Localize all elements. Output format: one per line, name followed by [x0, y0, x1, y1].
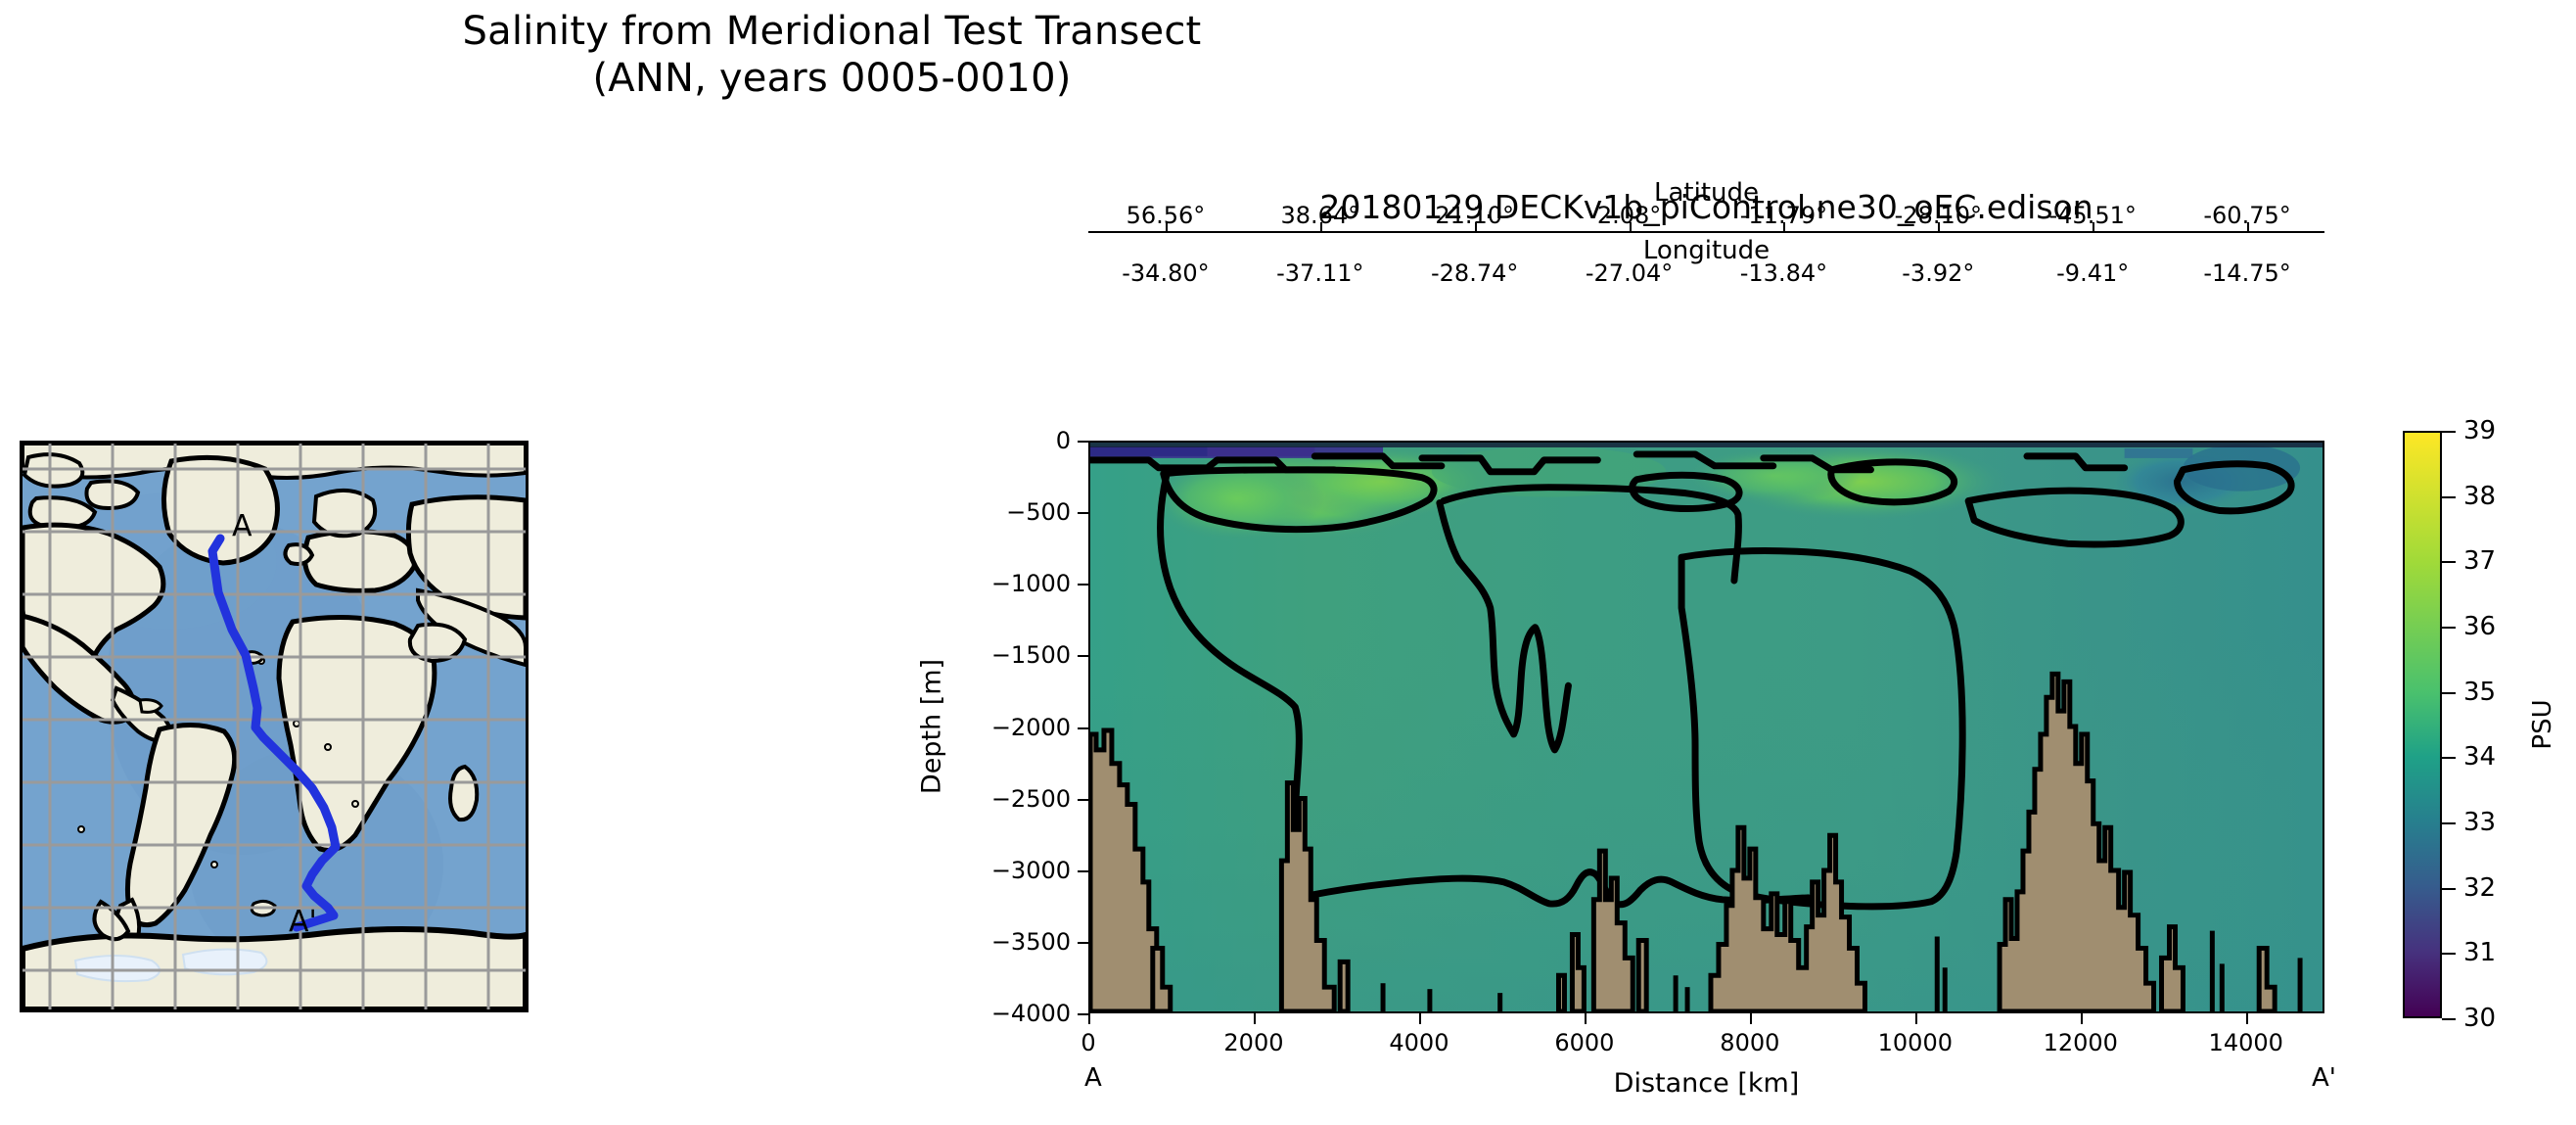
longitude-tick-label: -14.75°	[2203, 259, 2290, 287]
suptitle-line-2: (ANN, years 0005-0010)	[0, 55, 1664, 102]
distance-tick	[1585, 1013, 1587, 1024]
distance-tick-label: 2000	[1223, 1029, 1283, 1056]
distance-tick-label: 4000	[1389, 1029, 1449, 1056]
depth-tick	[1078, 870, 1088, 872]
latitude-tick	[1320, 222, 1322, 231]
colorbar-tick-label: 35	[2463, 678, 2496, 707]
colorbar[interactable]: 30313233343536373839	[2403, 431, 2442, 1018]
map-label-a: A	[232, 509, 253, 543]
colorbar-tick	[2442, 1018, 2456, 1020]
latitude-tick-labels: 56.56°38.64°21.10°2.08°-11.79°-28.10°-45…	[1088, 202, 2324, 231]
distance-tick-label: 0	[1081, 1029, 1095, 1056]
distance-tick-label: 6000	[1554, 1029, 1614, 1056]
figure-canvas: Salinity from Meridional Test Transect (…	[0, 0, 2576, 1125]
colorbar-tick	[2442, 953, 2456, 955]
depth-tick-label: −2000	[961, 714, 1071, 741]
distance-tick-label: 8000	[1720, 1029, 1779, 1056]
distance-tick	[1750, 1013, 1752, 1024]
figure-suptitle: Salinity from Meridional Test Transect (…	[0, 8, 1664, 102]
distance-tick-label: 14000	[2209, 1029, 2283, 1056]
depth-tick-label: −2500	[961, 785, 1071, 813]
colorbar-tick-label: 38	[2463, 482, 2496, 511]
latitude-tick	[1475, 222, 1477, 231]
distance-tick	[1915, 1013, 1917, 1024]
latitude-tick	[2093, 222, 2094, 231]
latitude-axis-line	[1088, 231, 2324, 233]
depth-tick	[1078, 584, 1088, 586]
colorbar-tick	[2442, 496, 2456, 498]
depth-tick-label: −4000	[961, 1000, 1071, 1027]
colorbar-tick	[2442, 561, 2456, 563]
salinity-field	[1090, 443, 2323, 1011]
colorbar-unit-label: PSU	[2528, 699, 2557, 749]
latitude-tick	[1938, 222, 1940, 231]
depth-tick-label: −500	[961, 498, 1071, 526]
depth-tick	[1078, 727, 1088, 729]
transect-start-label: A	[1084, 1063, 1102, 1093]
longitude-tick-label: -27.04°	[1586, 259, 1673, 287]
latitude-tick	[1630, 222, 1632, 231]
colorbar-tick	[2442, 431, 2456, 433]
distance-axis-title: Distance [km]	[1088, 1068, 2324, 1099]
longitude-tick-labels: -34.80°-37.11°-28.74°-27.04°-13.84°-3.92…	[1088, 259, 2324, 289]
suptitle-line-1: Salinity from Meridional Test Transect	[0, 8, 1664, 55]
colorbar-tick	[2442, 822, 2456, 824]
latitude-tick	[1783, 222, 1785, 231]
transect-location-map[interactable]: A A'	[20, 441, 529, 1012]
longitude-tick-label: -34.80°	[1122, 259, 1209, 287]
depth-tick	[1078, 1013, 1088, 1015]
map-label-a-prime: A'	[289, 905, 317, 939]
distance-tick	[1419, 1013, 1421, 1024]
latitude-tick	[2247, 222, 2249, 231]
longitude-tick-label: -3.92°	[1902, 259, 1974, 287]
depth-tick-label: −1500	[961, 641, 1071, 669]
colorbar-tick	[2442, 627, 2456, 629]
colorbar-tick-label: 33	[2463, 808, 2496, 837]
longitude-tick-label: -9.41°	[2056, 259, 2129, 287]
colorbar-tick-label: 39	[2463, 416, 2496, 445]
depth-tick	[1078, 799, 1088, 801]
colorbar-tick	[2442, 757, 2456, 759]
longitude-tick-label: -28.74°	[1431, 259, 1518, 287]
distance-tick	[2081, 1013, 2083, 1024]
distance-tick	[1254, 1013, 1256, 1024]
colorbar-tick-label: 32	[2463, 873, 2496, 903]
colorbar-tick-label: 36	[2463, 612, 2496, 641]
depth-tick-label: −3500	[961, 928, 1071, 956]
colorbar-tick-label: 30	[2463, 1004, 2496, 1033]
colorbar-tick-label: 34	[2463, 742, 2496, 772]
depth-tick	[1078, 655, 1088, 657]
depth-tick-label: −3000	[961, 857, 1071, 884]
depth-tick-label: −1000	[961, 570, 1071, 597]
colorbar-tick	[2442, 888, 2456, 890]
depth-tick-label: 0	[961, 427, 1071, 454]
longitude-tick-label: -37.11°	[1276, 259, 1363, 287]
colorbar-tick	[2442, 692, 2456, 694]
salinity-transect-axes[interactable]	[1088, 441, 2324, 1013]
colorbar-tick-label: 31	[2463, 938, 2496, 967]
distance-tick	[1088, 1013, 1090, 1024]
depth-tick	[1078, 942, 1088, 944]
longitude-tick-label: -13.84°	[1740, 259, 1827, 287]
world-map-svg: A A'	[23, 444, 526, 1009]
latitude-tick	[1166, 222, 1168, 231]
colorbar-tick-label: 37	[2463, 546, 2496, 576]
distance-tick-label: 12000	[2044, 1029, 2118, 1056]
distance-tick-label: 10000	[1878, 1029, 1953, 1056]
depth-tick	[1078, 512, 1088, 514]
transect-end-label: A'	[2312, 1063, 2336, 1093]
depth-axis-title: Depth [m]	[917, 659, 947, 794]
colorbar-gradient	[2403, 431, 2442, 1018]
depth-tick	[1078, 441, 1088, 443]
distance-tick	[2246, 1013, 2248, 1024]
